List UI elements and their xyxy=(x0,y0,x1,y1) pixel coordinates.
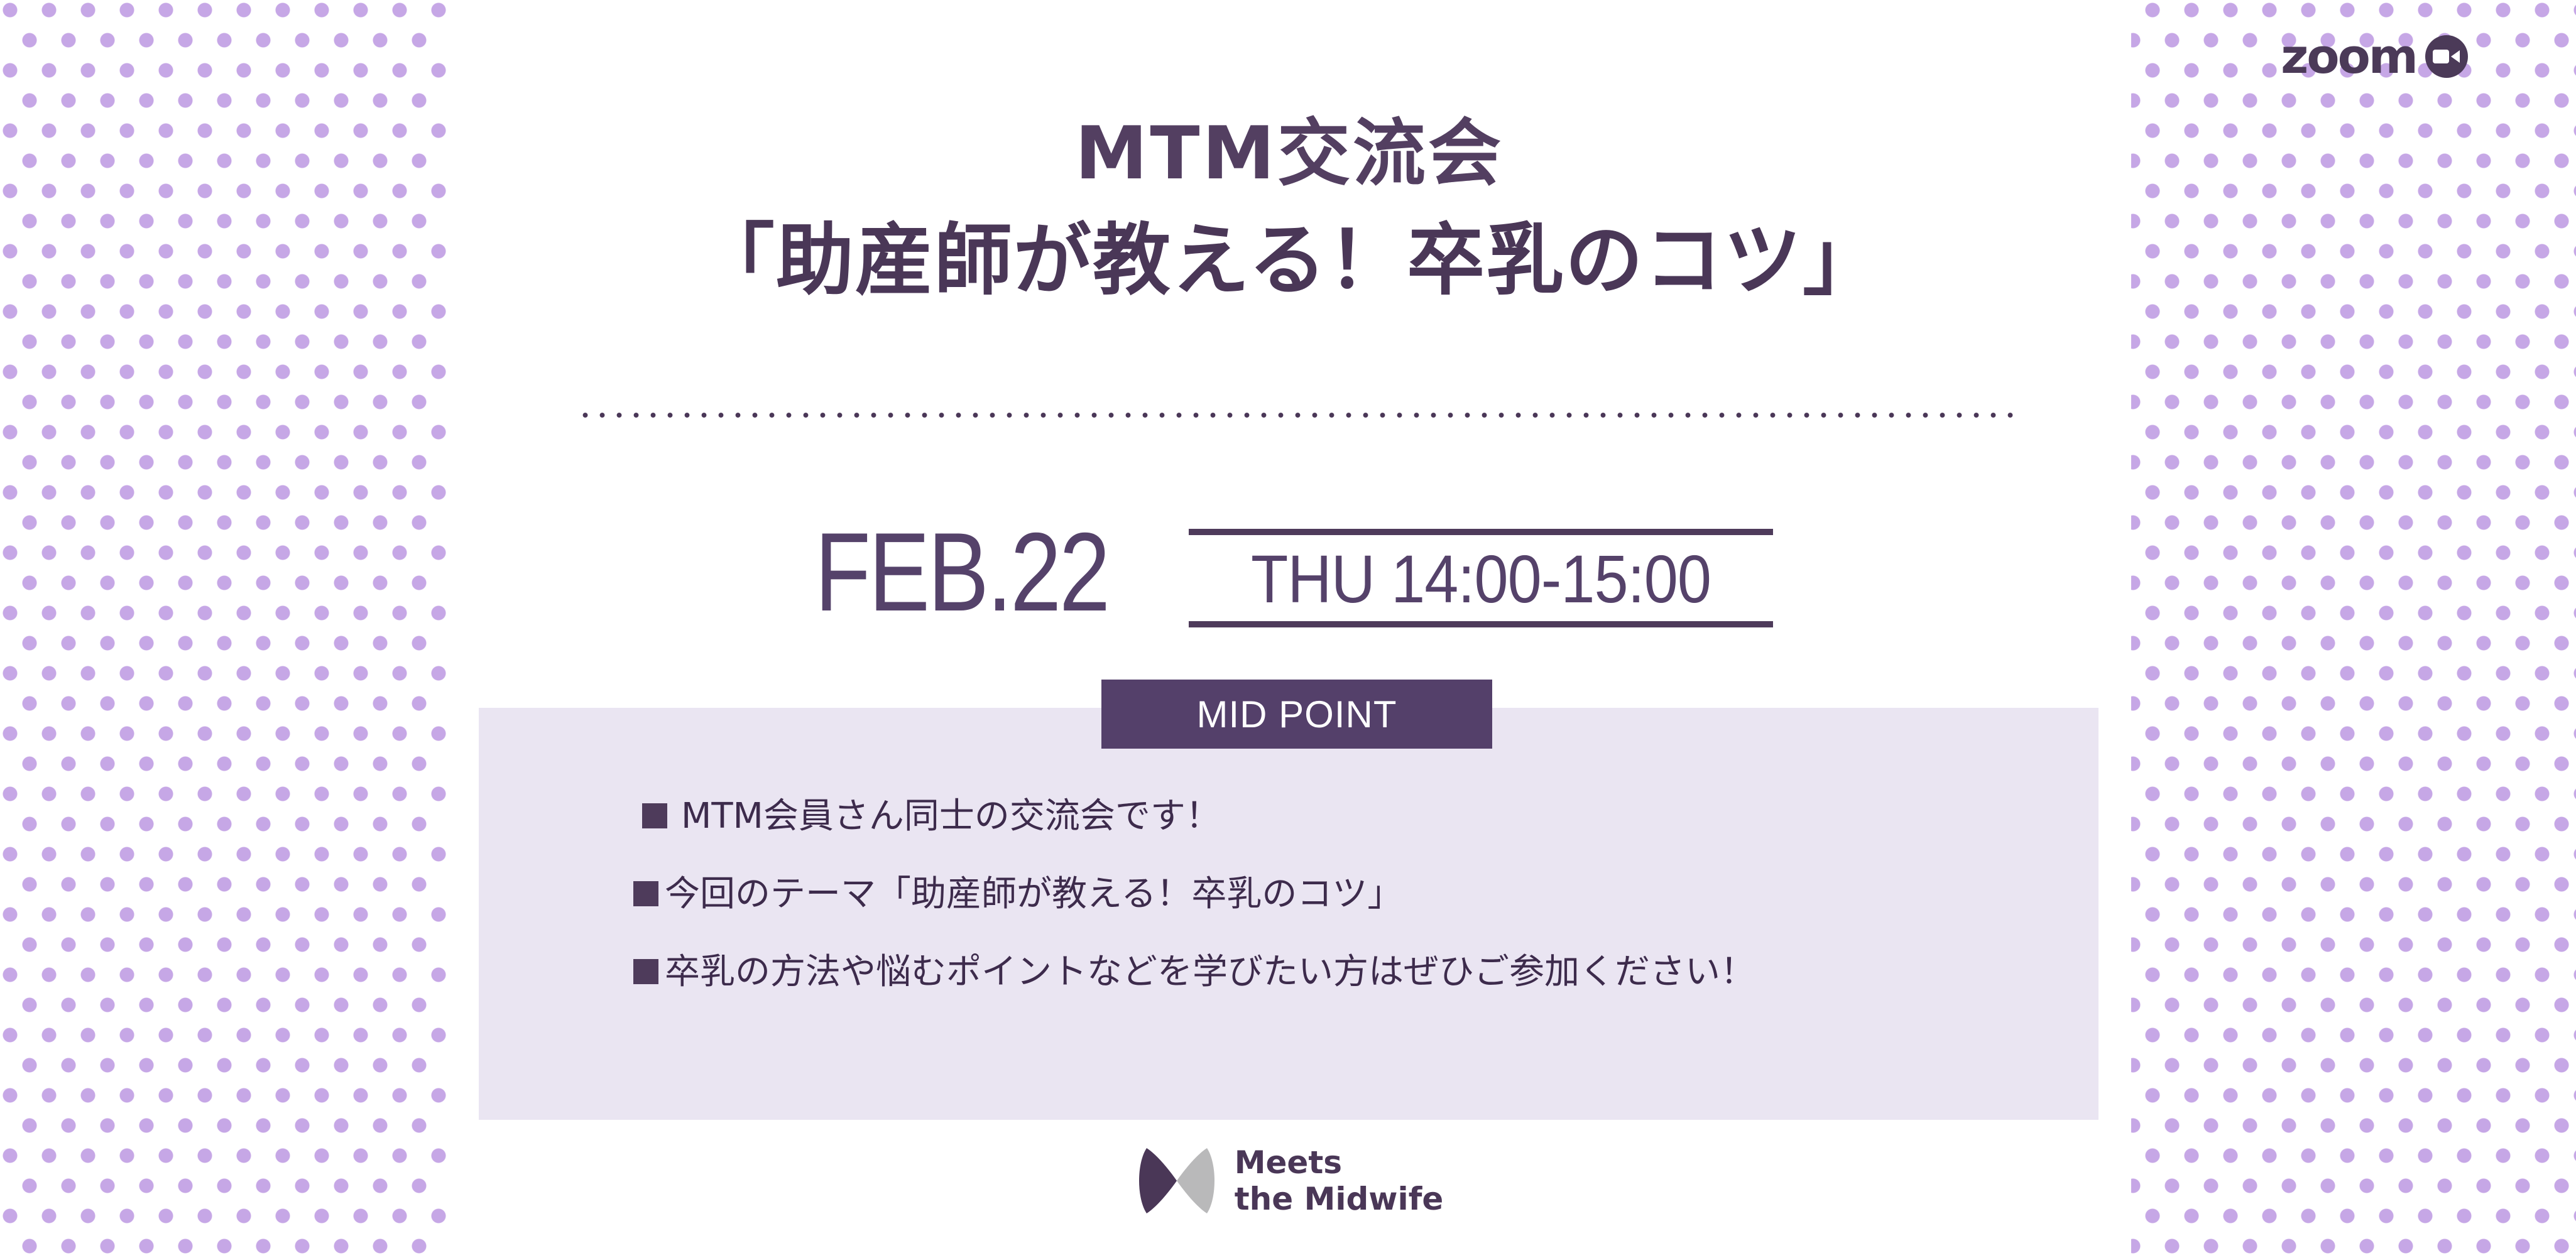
mid-point-badge: MID POINT xyxy=(1101,680,1492,749)
zoom-wordmark: zoom xyxy=(2281,33,2416,80)
headline-line-1: MTM交流会 xyxy=(447,113,2131,195)
event-time: THU 14:00-15:00 xyxy=(1218,539,1744,619)
headline-line-2: 「助産師が教える！卒乳のコツ」 xyxy=(447,211,2131,311)
headline-block: MTM交流会 「助産師が教える！卒乳のコツ」 xyxy=(447,113,2131,311)
bullet-list: MTM会員さん同士の交流会です！ 今回のテーマ「助産師が教える！卒乳のコツ」 卒… xyxy=(642,793,2043,996)
list-item-label: 今回のテーマ「助産師が教える！卒乳のコツ」 xyxy=(665,870,1402,918)
square-bullet-icon xyxy=(642,803,667,828)
video-camera-icon xyxy=(2425,35,2468,78)
footer-brand-line-1: Meets xyxy=(1235,1144,1342,1181)
zoom-logo: zoom xyxy=(2281,33,2468,80)
event-time-block: THU 14:00-15:00 xyxy=(1189,529,1773,627)
schedule-row: FEB.22 THU 14:00-15:00 xyxy=(447,519,2131,627)
mid-point-label: MID POINT xyxy=(1197,693,1397,736)
list-item: MTM会員さん同士の交流会です！ xyxy=(642,793,2043,840)
meets-the-midwife-mark-icon xyxy=(1135,1144,1218,1217)
list-item-label: MTM会員さん同士の交流会です！ xyxy=(681,793,1221,840)
list-item-label: 卒乳の方法や悩むポイントなどを学びたい方はぜひご参加ください！ xyxy=(665,948,1755,996)
footer-logo: Meets the Midwife xyxy=(447,1144,2131,1217)
footer-brand-name: Meets the Midwife xyxy=(1235,1144,1444,1217)
list-item: 卒乳の方法や悩むポイントなどを学びたい方はぜひご参加ください！ xyxy=(633,948,2043,996)
square-bullet-icon xyxy=(633,959,658,984)
dotted-divider xyxy=(577,412,2022,418)
event-date: FEB.22 xyxy=(805,519,1166,626)
footer-brand-line-2: the Midwife xyxy=(1235,1181,1444,1217)
list-item: 今回のテーマ「助産師が教える！卒乳のコツ」 xyxy=(633,870,2043,918)
square-bullet-icon xyxy=(633,881,658,906)
